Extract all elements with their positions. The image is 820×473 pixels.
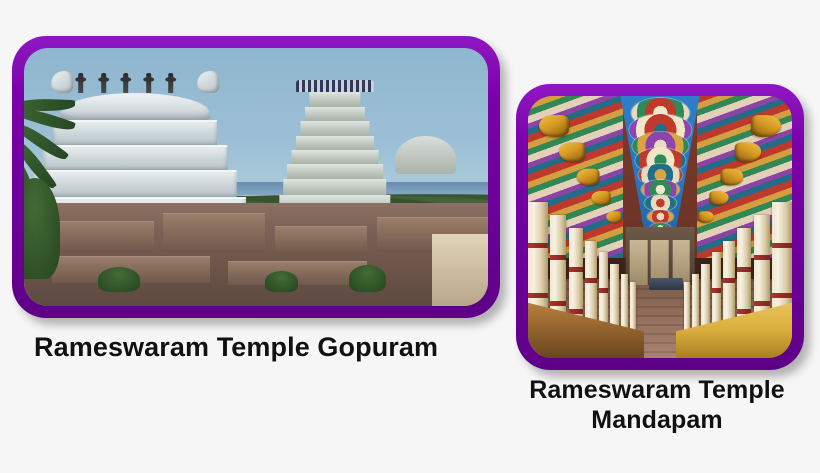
palm-tree-foliage [24, 94, 98, 275]
caption-gopuram: Rameswaram Temple Gopuram [34, 330, 486, 364]
caption-mandapam-line1: Rameswaram Temple [492, 375, 820, 405]
photo-mandapam [528, 96, 792, 358]
domed-vimana [395, 136, 455, 175]
corridor-scene [528, 96, 792, 358]
caption-mandapam-line2: Mandapam [492, 405, 820, 435]
pillar-colonnade-right [676, 196, 792, 358]
gopuram-crown [296, 80, 374, 93]
yali-sculpture [576, 168, 599, 185]
yali-sculpture [721, 168, 744, 185]
photo-frame-gopuram [12, 36, 500, 318]
pillar-colonnade-left [528, 196, 644, 358]
caption-mandapam: Rameswaram Temple Mandapam [492, 375, 820, 435]
image-canvas: Rameswaram Temple Gopuram [0, 0, 820, 473]
yali-sculpture [559, 143, 585, 162]
photo-frame-mandapam [516, 84, 804, 370]
photo-gopuram [24, 48, 488, 306]
